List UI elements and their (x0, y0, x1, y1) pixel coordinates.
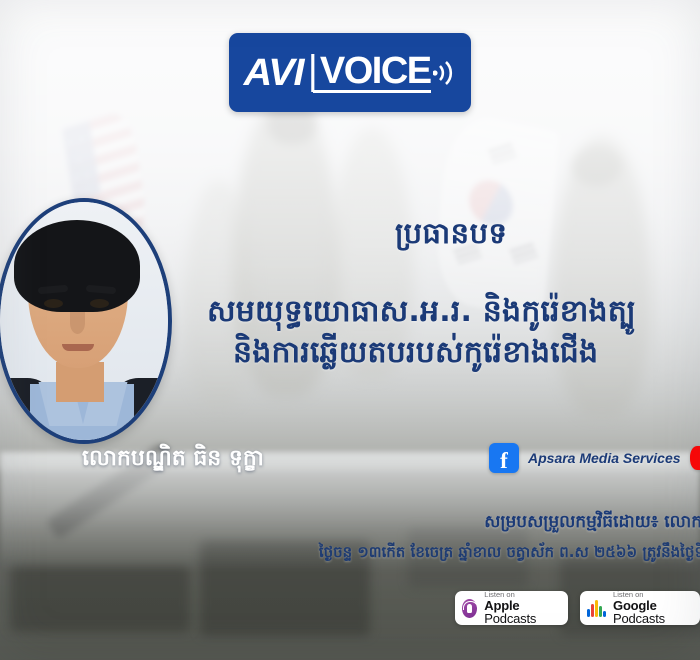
hair (14, 220, 140, 312)
logo-avi-text: AVI (244, 54, 314, 92)
badge-store-name: Google Podcasts (613, 599, 689, 626)
apple-podcasts-badge[interactable]: Listen on Apple Podcasts (455, 591, 568, 625)
broadcast-date: ថ្ងៃចន្ទ ១៣កើត ខែចេត្រ ឆ្នាំខាល ចត្វាស័ក… (319, 543, 700, 565)
facebook-page-name: Apsara Media Services (528, 450, 681, 466)
google-podcasts-badge[interactable]: Listen on Google Podcasts (580, 591, 700, 625)
speaker-name: លោកបណ្ឌិត ធិន ទុក្ខា (82, 444, 264, 476)
speaker-portrait (0, 198, 172, 444)
eye (44, 299, 63, 308)
podcast-badges: Listen on Apple Podcasts Listen on Googl… (455, 591, 700, 625)
social-links: f Apsara Media Services A (489, 443, 700, 473)
topic-label: ប្រធានបទ (395, 216, 507, 258)
apple-podcasts-icon (462, 599, 477, 618)
youtube-icon[interactable] (690, 446, 700, 470)
neck (56, 362, 104, 402)
podcast-cover-slide: AVI VOICE ប្រធានបទ សមយុទ្ធយោធាស.អ.រ. និង… (0, 0, 700, 660)
facebook-icon[interactable]: f (489, 443, 519, 473)
episode-title-line-1: សមយុទ្ធយោធាស.អ.រ. និងកូរ៉េខាងត្បូ (207, 292, 636, 336)
episode-title-line-2: និងការឆ្លើយតបរបស់កូរ៉េខាងជើង (233, 333, 598, 377)
sound-wave-icon (433, 58, 455, 88)
badge-store-name: Apple Podcasts (484, 599, 557, 626)
nose (70, 312, 85, 334)
logo-voice-text: VOICE (313, 52, 431, 93)
mouth (62, 344, 94, 351)
moderator-credit: សម្របសម្រួលកម្មវិធីដោយ៖ លោក (484, 511, 700, 536)
google-podcasts-icon (587, 600, 606, 617)
avi-voice-logo[interactable]: AVI VOICE (229, 33, 471, 112)
eye (90, 299, 109, 308)
